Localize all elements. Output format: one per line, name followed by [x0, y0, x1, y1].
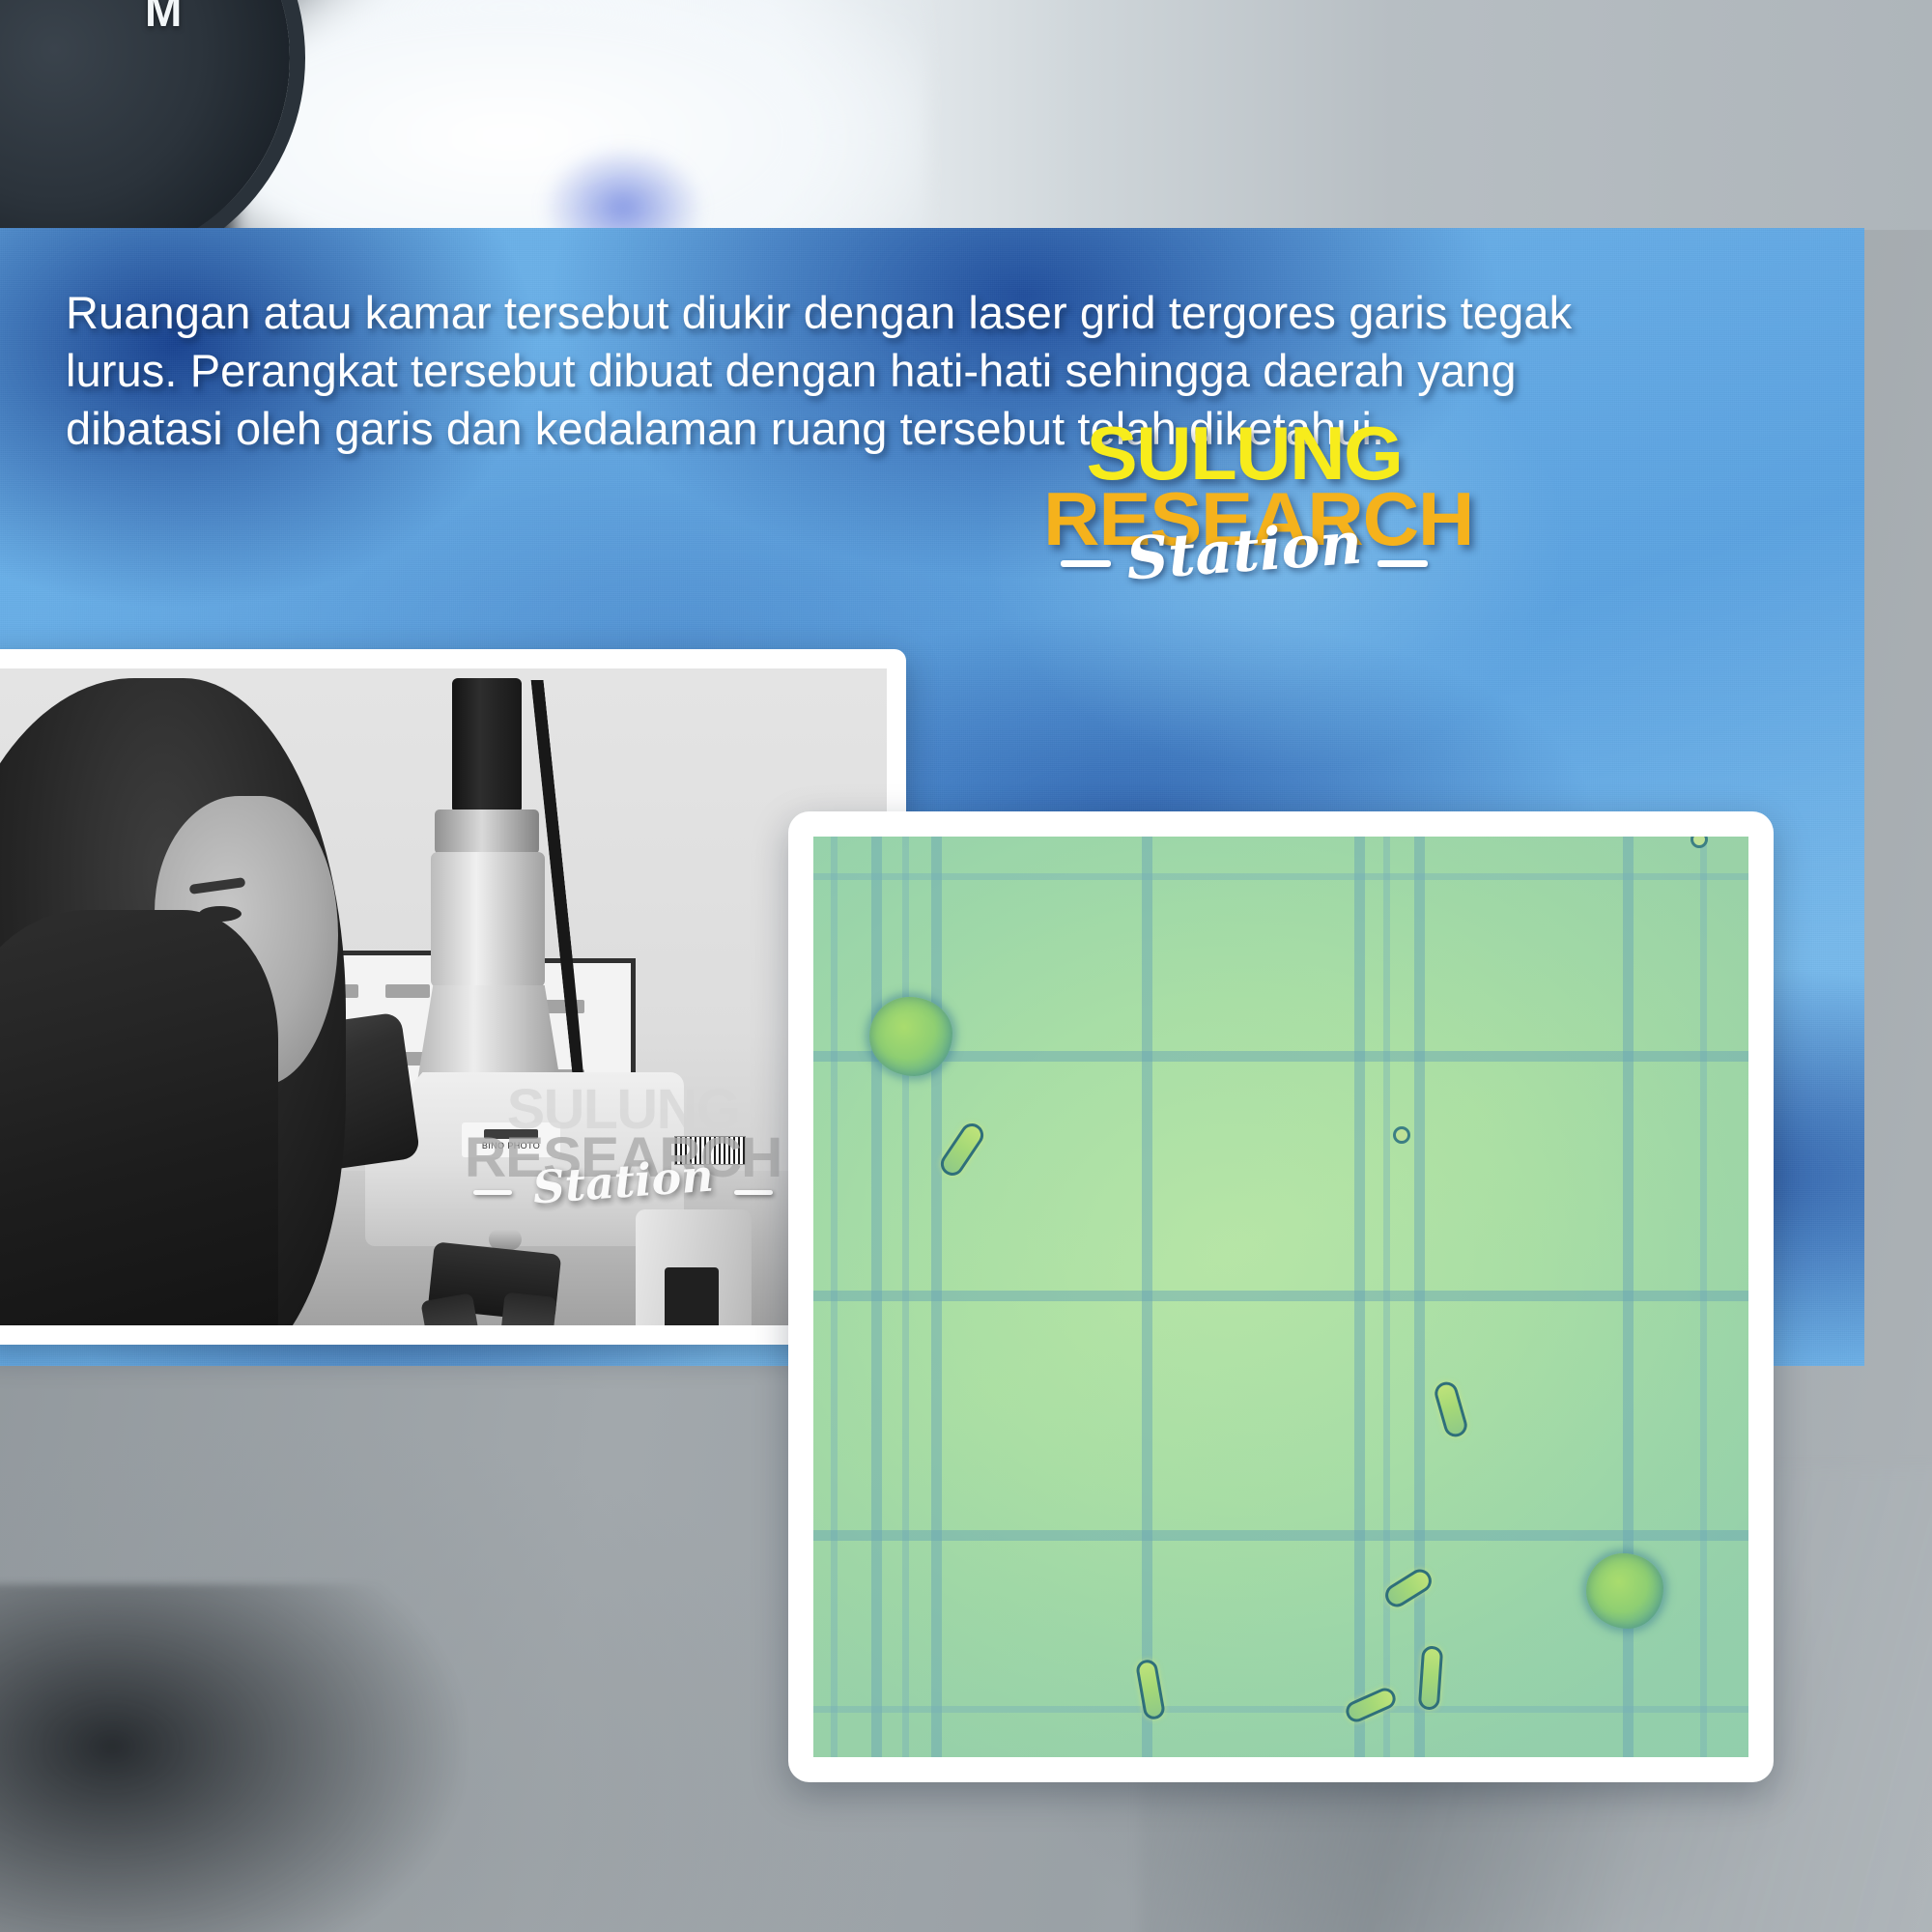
brand-dash-right-icon: [1378, 560, 1428, 567]
photo-card-microscope: BINO PHOTO 40x 10x SULUNG RESEARCH: [0, 649, 906, 1345]
body-line-2: lurus. Perangkat tersebut dibuat dengan …: [66, 342, 1336, 400]
brand-logo-station-row: Station: [1051, 526, 1437, 585]
body-line-1: Ruangan atau kamar tersebut diukir denga…: [66, 284, 1336, 342]
bino-photo-label: BINO PHOTO: [482, 1141, 540, 1151]
brand-logo: SULUNG RESEARCH Station: [1051, 419, 1437, 585]
microscope-photograph: BINO PHOTO 40x 10x SULUNG RESEARCH: [0, 668, 887, 1325]
bacterial-rod: [1418, 1645, 1444, 1710]
algal-cell: [869, 997, 952, 1076]
grid-line-horizontal: [813, 1706, 1748, 1713]
hemocytometer-micrograph: [813, 837, 1748, 1757]
microscope-mode-selector: BINO PHOTO: [462, 1122, 560, 1157]
bino-photo-slider-icon: [484, 1129, 538, 1139]
small-spore: [1393, 1126, 1410, 1144]
grid-line-horizontal: [813, 873, 1748, 880]
top-blurred-microscope-strip: M: [0, 0, 1932, 230]
grid-line-horizontal: [813, 1291, 1748, 1301]
microscope-barcode-sticker: [674, 1136, 746, 1165]
microscope-collar: [435, 810, 539, 854]
grid-line-horizontal: [813, 1530, 1748, 1541]
microscope-side-panel: [665, 1267, 719, 1325]
microscope-focus-knob: [489, 1229, 522, 1250]
microscope-camera-tube: [452, 678, 522, 813]
brand-dash-left-icon: [1061, 560, 1111, 567]
algal-cell: [1586, 1553, 1663, 1629]
microscope-knob-label: M: [145, 0, 184, 37]
background-dark-blur-left: [0, 1584, 464, 1932]
grid-line-horizontal: [813, 1051, 1748, 1062]
researcher-hijab-drape: [0, 910, 278, 1325]
microscope-head-upper: [431, 852, 545, 987]
photo-card-micrograph: [788, 811, 1774, 1782]
